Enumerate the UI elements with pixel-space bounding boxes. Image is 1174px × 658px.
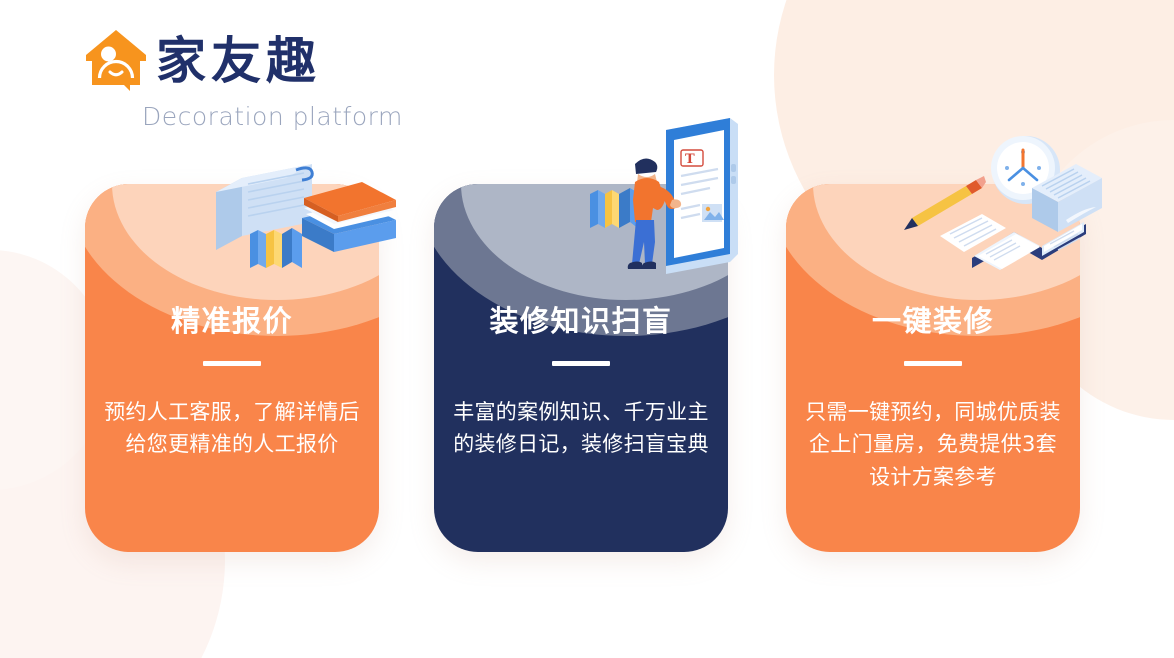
card-title: 一键装修 (802, 304, 1064, 339)
card-body: 一键装修 只需一键预约，同城优质装企上门量房，免费提供3套设计方案参考 (786, 304, 1080, 493)
feature-card-decoration-knowledge[interactable]: 装修知识扫盲 丰富的案例知识、千万业主的装修日记，装修扫盲宝典 (434, 184, 728, 552)
card-body: 装修知识扫盲 丰富的案例知识、千万业主的装修日记，装修扫盲宝典 (434, 304, 728, 461)
card-divider (552, 361, 610, 366)
card-description: 只需一键预约，同城优质装企上门量房，免费提供3套设计方案参考 (802, 396, 1064, 494)
card-body: 精准报价 预约人工客服，了解详情后给您更精准的人工报价 (85, 304, 379, 461)
feature-card-list: 精准报价 预约人工客服，了解详情后给您更精准的人工报价 装修知识扫盲 丰富的案例… (0, 0, 1174, 658)
card-description: 预约人工客服，了解详情后给您更精准的人工报价 (101, 396, 363, 461)
card-divider (203, 361, 261, 366)
feature-card-one-click-decoration[interactable]: 一键装修 只需一键预约，同城优质装企上门量房，免费提供3套设计方案参考 (786, 184, 1080, 552)
card-description: 丰富的案例知识、千万业主的装修日记，装修扫盲宝典 (450, 396, 712, 461)
card-divider (904, 361, 962, 366)
feature-card-precise-quote[interactable]: 精准报价 预约人工客服，了解详情后给您更精准的人工报价 (85, 184, 379, 552)
promo-banner: 家友趣 Decoration platform 精准报价 预约人工客服，了解详情… (0, 0, 1174, 658)
card-title: 精准报价 (101, 304, 363, 339)
card-title: 装修知识扫盲 (450, 304, 712, 339)
